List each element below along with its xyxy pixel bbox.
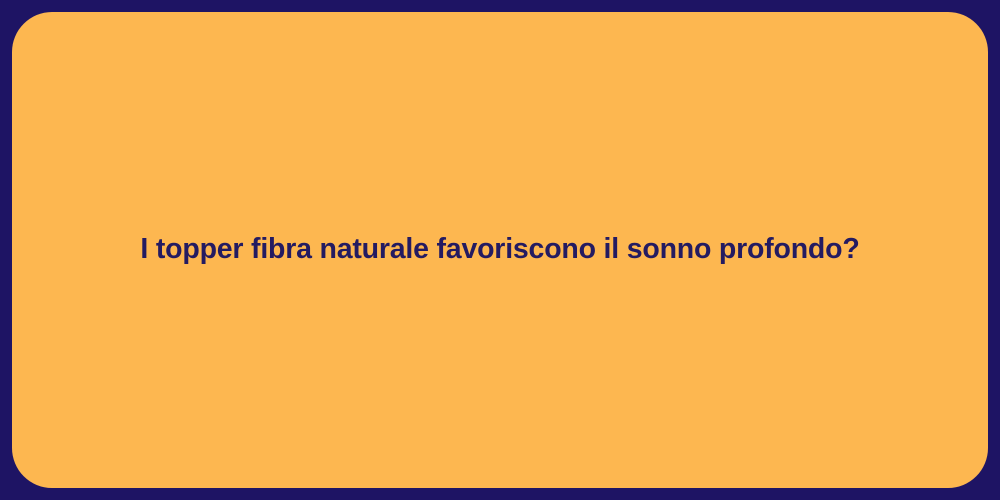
page-canvas: I topper fibra naturale favoriscono il s… (0, 0, 1000, 500)
content-card: I topper fibra naturale favoriscono il s… (12, 12, 988, 488)
headline-text: I topper fibra naturale favoriscono il s… (100, 232, 899, 268)
